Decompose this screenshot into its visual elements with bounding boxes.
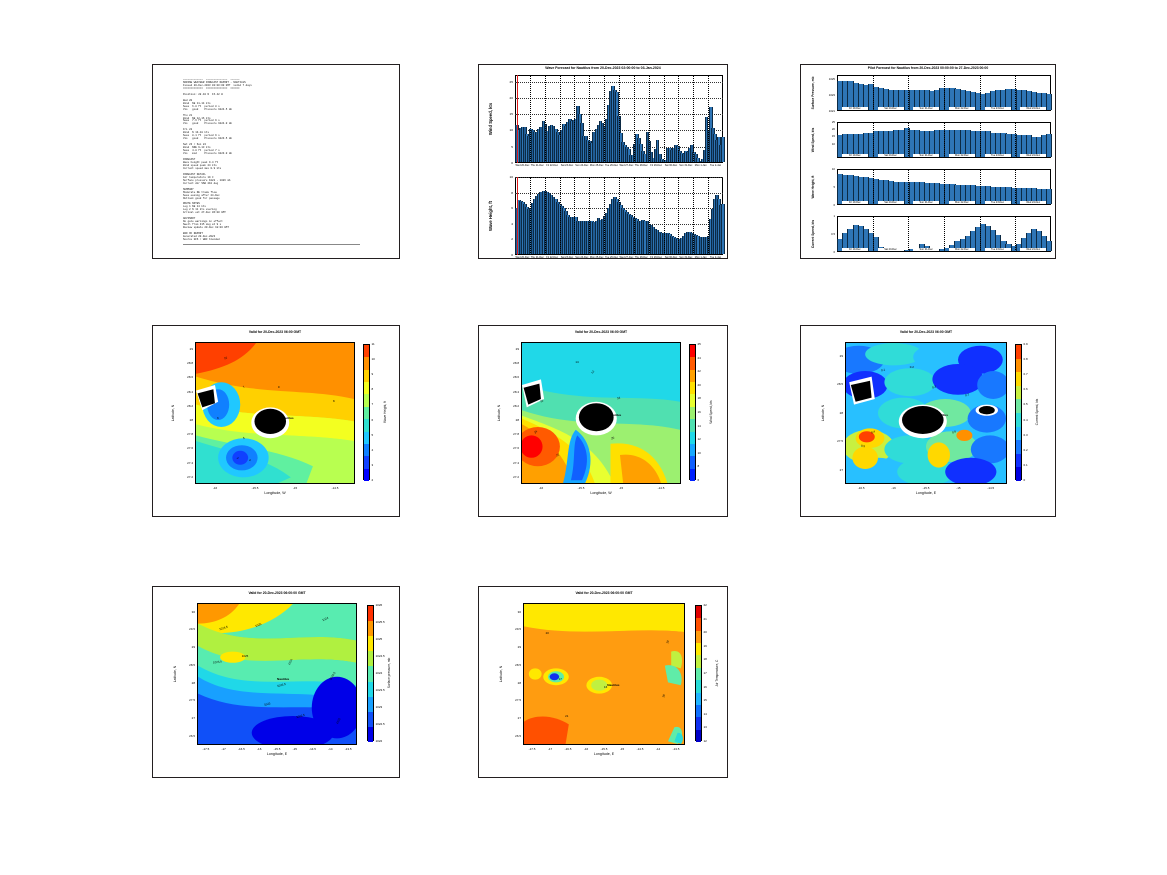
colorbar-swatch [690,345,695,357]
map-title: Valid for 20-Dec-2023 06:00:00 GMT [509,591,699,595]
day-separator [589,177,590,255]
day-label: Wed 24-Dec [1020,248,1046,251]
day-label: Sun 21-Dec [913,248,939,251]
colorbar-swatch [364,382,369,394]
y-tick: 1 [817,214,835,218]
x-axis-label: Longitude, E [197,752,357,756]
x-tick: -14.5 [649,486,673,490]
colorbar-swatch [1016,454,1021,468]
colorbar-tick: 14 [698,424,701,428]
map-title: Valid for 20-Dec-2023 06:00 GMT [507,330,695,334]
y-axis-label: Latitude, N [173,603,177,745]
y-tick: 10 [499,128,513,132]
wind-speed-map-panel: Valid for 20-Dec-2023 06:00 GMT2928.828.… [478,325,728,517]
y-tick: 0.5 [817,232,835,236]
y-axis-label: Latitude, N [821,342,825,484]
colorbar-tick: 0.3 [1024,433,1028,437]
y-tick: 28.4 [177,390,193,394]
day-separator [908,75,909,111]
y-tick: 27.8 [177,432,193,436]
day-separator [634,75,635,163]
colorbar-swatch [368,682,373,697]
colorbar-swatch [1016,345,1021,359]
x-tick: -15 [946,486,970,490]
y-tick: 27.5 [505,698,521,702]
colorbar-tick: 14 [704,712,707,716]
colorbar-label: Surface pressure, mb [387,605,391,741]
colorbar-swatch [690,407,695,419]
y-tick: 1021 [817,109,835,113]
colorbar-tick: 10 [372,357,375,361]
day-separator [560,177,561,255]
y-tick: 28.6 [177,375,193,379]
day-separator [664,75,665,163]
y-tick: 28.8 [177,361,193,365]
day-separator [1015,122,1016,158]
y-tick: 26.5 [179,734,195,738]
day-separator [980,122,981,158]
colorbar-swatch [364,357,369,369]
y-tick: 28.2 [503,404,519,408]
contour-label: 1025 [242,654,248,658]
day-label: Tue 2-Jan [705,256,727,259]
colorbar-swatch [368,697,373,712]
now-marker [517,75,518,163]
contour-label: 0.2 [910,365,914,369]
colorbar-tick: 2 [372,478,374,482]
colorbar-swatch [690,432,695,444]
day-separator [944,122,945,158]
y-tick: 15 [817,134,835,138]
colorbar-tick: 19 [704,644,707,648]
y-tick: 10 [499,175,513,179]
y-tick: 28.5 [827,382,843,386]
colorbar-tick: 6 [698,478,700,482]
colorbar-swatch [696,655,701,667]
colorbar-tick: 0.5 [1024,402,1028,406]
colorbar-swatch [696,680,701,692]
now-marker [517,177,518,255]
x-tick: -14.5 [323,486,347,490]
colorbar-swatch [696,717,701,729]
y-tick: 27 [827,468,843,472]
day-separator [908,216,909,252]
day-separator [908,122,909,158]
day-label: Tue 23-Dec [985,154,1011,157]
y-tick: 8 [499,191,513,195]
x-axis-label: Longitude, E [845,491,1007,495]
day-label: Fri 19-Dec [842,107,868,110]
colorbar-swatch [690,444,695,456]
colorbar-swatch [364,345,369,357]
day-separator [944,169,945,205]
y-tick: 28 [177,418,193,422]
contour-label: 17 [559,677,562,681]
y-tick: 29.5 [505,627,521,631]
colorbar-tick: 12 [704,739,707,743]
colorbar-tick: 0 [1024,478,1026,482]
colorbar-swatch [1016,440,1021,454]
y-tick: 28.2 [177,404,193,408]
colorbar-tick: 0.7 [1024,372,1028,376]
colorbar-swatch [696,618,701,630]
colorbar-tick: 13 [704,725,707,729]
colorbar-label: Air Temperature, C [715,605,719,741]
day-separator [545,75,546,163]
day-separator [678,177,679,255]
day-separator [873,169,874,205]
colorbar-swatch [368,621,373,636]
colorbar-swatch [696,606,701,618]
colorbar-tick: 10 [698,451,701,455]
day-separator [574,177,575,255]
colorbar-swatch [1016,467,1021,481]
y-axis-label: Latitude, N [499,603,503,745]
y-tick: 6 [499,206,513,210]
day-separator [574,75,575,163]
colorbar-tick: 22 [698,369,701,373]
y-tick: 15 [499,112,513,116]
wave-height-map-panel: Valid for 20-Dec-2023 06:00 GMT2928.828.… [152,325,400,517]
colorbar-swatch [690,419,695,431]
day-separator [545,177,546,255]
y-tick: 29 [505,645,521,649]
y-tick: 29.5 [179,627,195,631]
bar [1046,189,1052,204]
map-plot-area [195,342,355,484]
colorbar [363,344,370,480]
contour-label: 16 [604,685,607,689]
y-tick: 25 [817,120,835,124]
colorbar-tick: 11 [372,342,375,346]
day-label: Tue 23-Dec [985,201,1011,204]
day-label: Sun 21-Dec [913,154,939,157]
colorbar-tick: 0.8 [1024,357,1028,361]
colorbar-swatch [368,666,373,681]
y-tick: 27.2 [177,475,193,479]
x-axis-label: Longitude, W [521,491,681,495]
colorbar-tick: 15 [704,698,707,702]
colorbar-swatch [1016,413,1021,427]
day-separator [693,177,694,255]
day-label: Sat 20-Dec [878,248,904,251]
colorbar-swatch [364,419,369,431]
y-axis-label: Wind Speed, kts [488,75,493,163]
map-plot-area [523,603,685,745]
y-tick: 27.5 [827,439,843,443]
day-separator [604,177,605,255]
colorbar-tick: 1025.5 [376,620,385,624]
day-label: Fri 19-Dec [842,154,868,157]
colorbar-tick: 0.2 [1024,448,1028,452]
y-tick: 20 [499,96,513,100]
x-axis-label: Longitude, W [195,491,355,495]
day-separator [530,177,531,255]
text-report-panel: ============= ============== ======MARIN… [152,64,400,259]
colorbar-swatch [1016,359,1021,373]
y-tick: 27 [505,716,521,720]
map-plot-area [521,342,681,484]
day-label: Wed 24-Dec [1020,201,1046,204]
colorbar-swatch [690,382,695,394]
colorbar-swatch [364,370,369,382]
day-label: Sun 21-Dec [913,201,939,204]
colorbar-swatch [364,469,369,481]
colorbar-tick: 1023 [376,705,383,709]
y-tick: 29 [179,645,195,649]
colorbar-tick: 12 [698,437,701,441]
colorbar-tick: 1023.5 [376,688,385,692]
contour-label: 18 [617,396,621,400]
colorbar-swatch [696,631,701,643]
y-axis-label: Wind Speed, kts [811,122,815,158]
chart-title: Wave Forecast for Nautilus from 20-Dec-2… [479,66,727,70]
day-separator [980,216,981,252]
y-tick: 27.8 [503,432,519,436]
surface-pressure-map-panel: Valid for 20-Dec-2023 06:00:00 GMT3029.5… [152,586,400,778]
wind-wave-chart-panel: Wave Forecast for Nautilus from 20-Dec-2… [478,64,728,259]
x-axis-label: Longitude, E [523,752,685,756]
day-label: Sat 20-Dec [878,154,904,157]
day-separator [649,177,650,255]
map-plot-area [845,342,1007,484]
y-tick: 10 [817,167,835,171]
y-tick: 0 [817,203,835,207]
y-tick: 20 [817,127,835,131]
bar [1046,94,1052,110]
colorbar-tick: 1022 [376,739,383,743]
day-label: Mon 22-Dec [949,154,975,157]
x-tick: -16.5 [849,486,873,490]
y-tick: 4 [499,222,513,226]
colorbar-tick: 9 [372,372,374,376]
y-tick: 29 [503,347,519,351]
y-tick: 10 [817,142,835,146]
colorbar-swatch [368,636,373,651]
colorbar-swatch [1016,372,1021,386]
day-separator [678,75,679,163]
day-separator [708,177,709,255]
colorbar-tick: 22 [704,603,707,607]
colorbar-tick: 24 [698,356,701,360]
colorbar-tick: 7 [372,402,374,406]
day-separator [980,75,981,111]
day-separator [560,75,561,163]
colorbar-swatch [1016,427,1021,441]
colorbar-tick: 8 [698,464,700,468]
x-tick: -15.5 [569,486,593,490]
colorbar [367,605,374,741]
colorbar-tick: 20 [698,383,701,387]
colorbar [695,605,702,741]
day-label: Mon 22-Dec [949,107,975,110]
colorbar-tick: 25 [698,342,701,346]
day-separator [873,122,874,158]
y-tick: 27.5 [179,698,195,702]
day-label: Sun 21-Dec [913,107,939,110]
colorbar-swatch [696,693,701,705]
colorbar-swatch [690,469,695,481]
colorbar-swatch [364,432,369,444]
contour-label: 0.1 [880,367,885,372]
colorbar-tick: 1024.5 [376,654,385,658]
site-label: Nautilus [277,677,289,681]
site-label: Nautilus [609,413,621,417]
colorbar-tick: 17 [704,671,707,675]
x-tick: -15 [283,486,307,490]
day-label: Sat 20-Dec [878,107,904,110]
y-tick: 29 [177,347,193,351]
colorbar-tick: 6 [372,418,374,422]
day-label: Wed 24-Dec [1020,154,1046,157]
y-tick: 28.6 [503,375,519,379]
bar [721,137,725,162]
colorbar-swatch [368,727,373,742]
colorbar-tick: 3 [372,463,374,467]
colorbar-label: Wind Speed, kts [709,344,713,480]
y-tick: 26.5 [505,734,521,738]
site-label: Nautilus [607,683,619,687]
colorbar-swatch [364,444,369,456]
y-tick: 27.6 [503,446,519,450]
day-separator [944,75,945,111]
colorbar-tick: 0.6 [1024,387,1028,391]
colorbar-tick: 16 [704,685,707,689]
colorbar-tick: 1024 [376,671,383,675]
x-tick: -13.5 [336,747,360,751]
y-axis-label: Current Speed, kts [811,216,815,252]
day-label: Fri 19-Dec [842,201,868,204]
colorbar-tick: 0.1 [1024,463,1028,467]
y-tick: 30 [179,610,195,614]
y-tick: 28 [827,411,843,415]
day-label: Tue 23-Dec [985,248,1011,251]
colorbar-tick: 18 [698,396,701,400]
contour-label: 21 [565,714,568,718]
y-tick: 1025 [817,77,835,81]
colorbar-swatch [1016,399,1021,413]
colorbar-swatch [368,606,373,621]
colorbar-tick: 21 [704,617,707,621]
colorbar-tick: 16 [698,410,701,414]
colorbar-tick: 1022.5 [376,722,385,726]
y-tick: 25 [499,80,513,84]
colorbar-label: Current Speed, kts [1035,344,1039,480]
contour-label: 20 [546,631,549,635]
contour-label: 8 [332,399,334,403]
colorbar-swatch [690,370,695,382]
day-label: Fri 19-Dec [842,248,868,251]
colorbar-tick: 1026 [376,603,383,607]
report-text-block: ============= ============== ======MARIN… [183,79,389,252]
bar [1046,241,1052,251]
y-tick: 2 [499,237,513,241]
colorbar-swatch [690,456,695,468]
air-temperature-map-panel: Valid for 20-Dec-2023 06:00:00 GMT3029.5… [478,586,728,778]
y-tick: 27.6 [177,446,193,450]
colorbar-swatch [368,651,373,666]
site-label: Nautilus [281,416,293,420]
day-separator [664,177,665,255]
y-tick: 0 [817,250,835,254]
colorbar-swatch [696,643,701,655]
day-separator [1015,75,1016,111]
colorbar-tick: 0.9 [1024,342,1028,346]
day-separator [708,75,709,163]
day-label: Tue 2-Jan [705,164,727,167]
colorbar-tick: 20 [704,630,707,634]
y-axis-label: Latitude, N [497,342,501,484]
y-tick: 28.5 [505,663,521,667]
map-title: Valid for 20-Dec-2023 06:00 GMT [831,330,1021,334]
current-speed-map-panel: Valid for 20-Dec-2023 06:00 GMT2928.5282… [800,325,1056,517]
day-separator [634,177,635,255]
bar [721,204,725,254]
y-tick: 28.4 [503,390,519,394]
colorbar-tick: 5 [372,433,374,437]
y-axis-label: Wave Height, ft [811,169,815,205]
colorbar-swatch [1016,386,1021,400]
contour-label: 14 [575,360,578,364]
y-tick: 28 [179,681,195,685]
colorbar-swatch [696,730,701,742]
map-title: Valid for 20-Dec-2023 06:00:00 GMT [183,591,371,595]
y-tick: 27.4 [503,461,519,465]
colorbar-tick: 0.4 [1024,418,1028,422]
y-axis-label: Latitude, N [171,342,175,484]
y-tick: 30 [505,610,521,614]
day-label: Sat 20-Dec [878,201,904,204]
contour-label: 0.7 [965,393,970,398]
x-tick: -16 [203,486,227,490]
y-tick: 27 [179,716,195,720]
y-tick: 28 [503,418,519,422]
y-tick: 27.2 [503,475,519,479]
x-tick: -15.5 [914,486,938,490]
map-title: Valid for 20-Dec-2023 06:00 GMT [181,330,369,334]
y-tick: 27.4 [177,461,193,465]
report-divider [183,244,360,245]
day-separator [530,75,531,163]
colorbar-swatch [690,394,695,406]
pilot-forecast-panel: Pilot Forecast for Nautilus from 20-Dec-… [800,64,1056,259]
day-separator [1015,216,1016,252]
day-separator [980,169,981,205]
colorbar-swatch [364,394,369,406]
day-separator [649,75,650,163]
colorbar [1015,344,1022,480]
day-separator [908,169,909,205]
report-line: Source GFS / WW3 blended [183,239,389,242]
x-tick: -13.5 [664,747,688,751]
day-separator [1015,169,1016,205]
day-separator [619,75,620,163]
colorbar-swatch [696,668,701,680]
y-tick: 5 [499,145,513,149]
contour-label: 20 [610,435,614,440]
x-tick: -15 [609,486,633,490]
colorbar-tick: 4 [372,448,374,452]
colorbar-swatch [364,407,369,419]
y-tick: 28 [505,681,521,685]
y-tick: 28.8 [503,361,519,365]
contour-label: 9 [278,384,280,388]
x-tick: -16 [882,486,906,490]
colorbar-tick: 1025 [376,637,383,641]
day-separator [619,177,620,255]
y-tick: 1023 [817,93,835,97]
site-label: Nautilus [936,413,948,417]
